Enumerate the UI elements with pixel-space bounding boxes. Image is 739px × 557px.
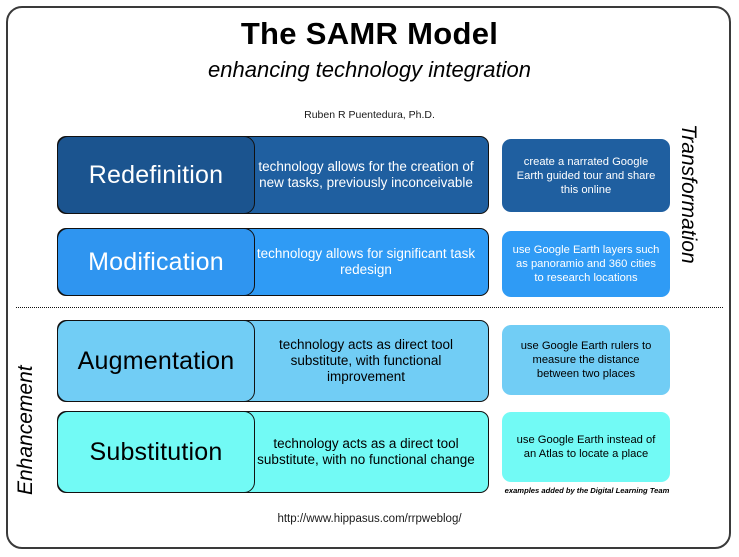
page-title: The SAMR Model <box>0 16 739 52</box>
level-label-modification[interactable]: Modification <box>57 228 255 296</box>
example-box-augmentation: use Google Earth rulers to measure the d… <box>502 325 670 395</box>
samr-diagram: The SAMR Model enhancing technology inte… <box>0 0 739 557</box>
description-text-modification: technology allows for significant task r… <box>252 246 480 278</box>
footer-url[interactable]: http://www.hippasus.com/rrpweblog/ <box>0 513 739 525</box>
author-byline: Ruben R Puentedura, Ph.D. <box>0 109 739 121</box>
examples-credit: examples added by the Digital Learning T… <box>497 486 677 495</box>
samr-row-redefinition: technology allows for the creation of ne… <box>57 136 489 214</box>
description-text-redefinition: technology allows for the creation of ne… <box>252 159 480 191</box>
section-divider <box>16 307 723 308</box>
level-label-augmentation[interactable]: Augmentation <box>57 320 255 402</box>
page-subtitle: enhancing technology integration <box>0 57 739 83</box>
example-box-modification: use Google Earth layers such as panorami… <box>502 231 670 297</box>
side-label-transformation: Transformation <box>676 124 700 148</box>
level-label-substitution[interactable]: Substitution <box>57 411 255 493</box>
side-label-enhancement: Enhancement <box>14 471 38 495</box>
samr-row-augmentation: technology acts as direct tool substitut… <box>57 320 489 402</box>
samr-row-substitution: technology acts as a direct tool substit… <box>57 411 489 493</box>
description-text-augmentation: technology acts as direct tool substitut… <box>252 337 480 385</box>
level-label-redefinition[interactable]: Redefinition <box>57 136 255 214</box>
samr-row-modification: technology allows for significant task r… <box>57 228 489 296</box>
example-box-substitution: use Google Earth instead of an Atlas to … <box>502 412 670 482</box>
description-text-substitution: technology acts as a direct tool substit… <box>252 436 480 468</box>
example-box-redefinition: create a narrated Google Earth guided to… <box>502 139 670 212</box>
